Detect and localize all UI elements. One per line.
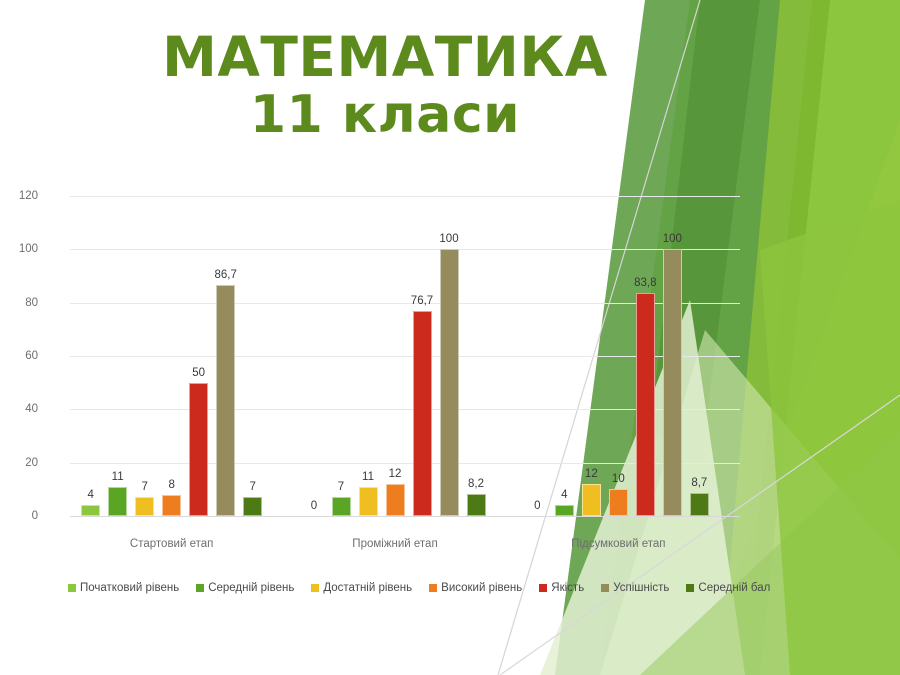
bar-slot[interactable]: 83,8 [636, 196, 655, 516]
bar[interactable] [440, 249, 459, 516]
presentation-slide: МАТЕМАТИКА 11 класи 02040608010012041178… [0, 0, 900, 675]
bar-slot[interactable]: 11 [359, 196, 378, 516]
bar-value-label: 12 [389, 468, 402, 480]
bar[interactable] [332, 497, 351, 516]
legend-item[interactable]: Якість [539, 582, 584, 594]
bar-value-label: 8 [168, 479, 174, 491]
legend-item-label: Середній бал [698, 582, 770, 594]
bar-slot[interactable]: 100 [440, 196, 459, 516]
bar[interactable] [359, 487, 378, 516]
bar-slot[interactable]: 76,7 [413, 196, 432, 516]
bar-value-label: 7 [249, 481, 255, 493]
bar[interactable] [636, 293, 655, 516]
legend-item[interactable]: Достатній рівень [311, 582, 412, 594]
legend-item[interactable]: Середній бал [686, 582, 770, 594]
bar-group-bars: 04121083,81008,7 [528, 196, 709, 516]
bar-slot[interactable]: 86,7 [216, 196, 235, 516]
bar[interactable] [663, 249, 682, 516]
bar-value-label: 10 [612, 473, 625, 485]
y-axis-tick-label: 100 [0, 243, 38, 255]
bar-slot[interactable]: 7 [332, 196, 351, 516]
bar-slot[interactable]: 4 [81, 196, 100, 516]
y-axis-tick-label: 60 [0, 350, 38, 362]
legend-swatch-icon [429, 584, 437, 592]
bar[interactable] [386, 484, 405, 516]
bar-value-label: 11 [112, 471, 124, 483]
bar[interactable] [690, 493, 709, 516]
bright-green-overlay [760, 200, 900, 675]
bar-group: 07111276,71008,2 [305, 196, 486, 516]
bar-slot[interactable]: 0 [305, 196, 324, 516]
bar[interactable] [243, 497, 262, 516]
legend-item[interactable]: Високий рівень [429, 582, 522, 594]
legend-item[interactable]: Початковий рівень [68, 582, 179, 594]
bar[interactable] [467, 494, 486, 516]
bar-value-label: 83,8 [634, 277, 656, 289]
x-axis-category-label: Проміжний етап [352, 538, 437, 550]
bar-value-label: 8,2 [468, 478, 484, 490]
bar[interactable] [135, 497, 154, 516]
legend-item-label: Успішність [613, 582, 669, 594]
y-axis-tick-label: 0 [0, 510, 38, 522]
legend-swatch-icon [196, 584, 204, 592]
bar[interactable] [216, 285, 235, 516]
title-line-1: МАТЕМАТИКА [60, 28, 710, 87]
bar-group: 411785086,77 [81, 196, 262, 516]
bar-slot[interactable]: 100 [663, 196, 682, 516]
y-axis-tick-label: 40 [0, 403, 38, 415]
bar[interactable] [81, 505, 100, 516]
legend-swatch-icon [68, 584, 76, 592]
bar-slot[interactable]: 12 [582, 196, 601, 516]
bar-value-label: 4 [87, 489, 93, 501]
bar-group-bars: 411785086,77 [81, 196, 262, 516]
gridline [70, 516, 740, 517]
bar-chart: 020406080100120411785086,77Стартовий ета… [0, 180, 760, 600]
legend-swatch-icon [311, 584, 319, 592]
bar[interactable] [413, 311, 432, 516]
bar-value-label: 7 [141, 481, 147, 493]
bar-slot[interactable]: 0 [528, 196, 547, 516]
y-axis-tick-label: 120 [0, 190, 38, 202]
plot-area: 020406080100120411785086,77Стартовий ета… [70, 196, 740, 516]
legend-item-label: Достатній рівень [323, 582, 412, 594]
bar[interactable] [108, 487, 127, 516]
bar[interactable] [555, 505, 574, 516]
bar-slot[interactable]: 4 [555, 196, 574, 516]
x-axis-category-label: Підсумковий етап [571, 538, 665, 550]
bar[interactable] [162, 495, 181, 516]
bar-value-label: 12 [585, 468, 598, 480]
bar[interactable] [582, 484, 601, 516]
bar-slot[interactable]: 10 [609, 196, 628, 516]
legend-item[interactable]: Успішність [601, 582, 669, 594]
legend-item-label: Високий рівень [441, 582, 522, 594]
bar-value-label: 11 [362, 471, 374, 483]
legend-item-label: Середній рівень [208, 582, 294, 594]
bar-slot[interactable]: 7 [243, 196, 262, 516]
bar-slot[interactable]: 8 [162, 196, 181, 516]
chart-legend: Початковий рівеньСередній рівеньДостатні… [68, 582, 770, 594]
bar-value-label: 50 [192, 367, 205, 379]
bar-slot[interactable]: 7 [135, 196, 154, 516]
bar-value-label: 0 [534, 500, 540, 512]
bar[interactable] [189, 383, 208, 516]
bar-value-label: 76,7 [411, 295, 433, 307]
bar-slot[interactable]: 11 [108, 196, 127, 516]
bar-value-label: 8,7 [691, 477, 707, 489]
bar-slot[interactable]: 12 [386, 196, 405, 516]
legend-swatch-icon [601, 584, 609, 592]
bar-value-label: 7 [338, 481, 344, 493]
bar-slot[interactable]: 8,7 [690, 196, 709, 516]
bar-value-label: 100 [439, 233, 458, 245]
legend-swatch-icon [539, 584, 547, 592]
bright-green-wedge-right [742, 0, 900, 675]
bar-value-label: 4 [561, 489, 567, 501]
y-axis-tick-label: 20 [0, 457, 38, 469]
bar-group-bars: 07111276,71008,2 [305, 196, 486, 516]
legend-item[interactable]: Середній рівень [196, 582, 294, 594]
title-line-2: 11 класи [60, 87, 710, 143]
legend-swatch-icon [686, 584, 694, 592]
bar-value-label: 100 [663, 233, 682, 245]
bar-group: 04121083,81008,7 [528, 196, 709, 516]
legend-item-label: Початковий рівень [80, 582, 179, 594]
bar-slot[interactable]: 8,2 [467, 196, 486, 516]
bar-value-label: 86,7 [214, 269, 236, 281]
bar[interactable] [609, 489, 628, 516]
x-axis-category-label: Стартовий етап [130, 538, 213, 550]
slide-title: МАТЕМАТИКА 11 класи [60, 28, 710, 144]
bar-slot[interactable]: 50 [189, 196, 208, 516]
bar-value-label: 0 [311, 500, 317, 512]
y-axis-tick-label: 80 [0, 297, 38, 309]
legend-item-label: Якість [551, 582, 584, 594]
